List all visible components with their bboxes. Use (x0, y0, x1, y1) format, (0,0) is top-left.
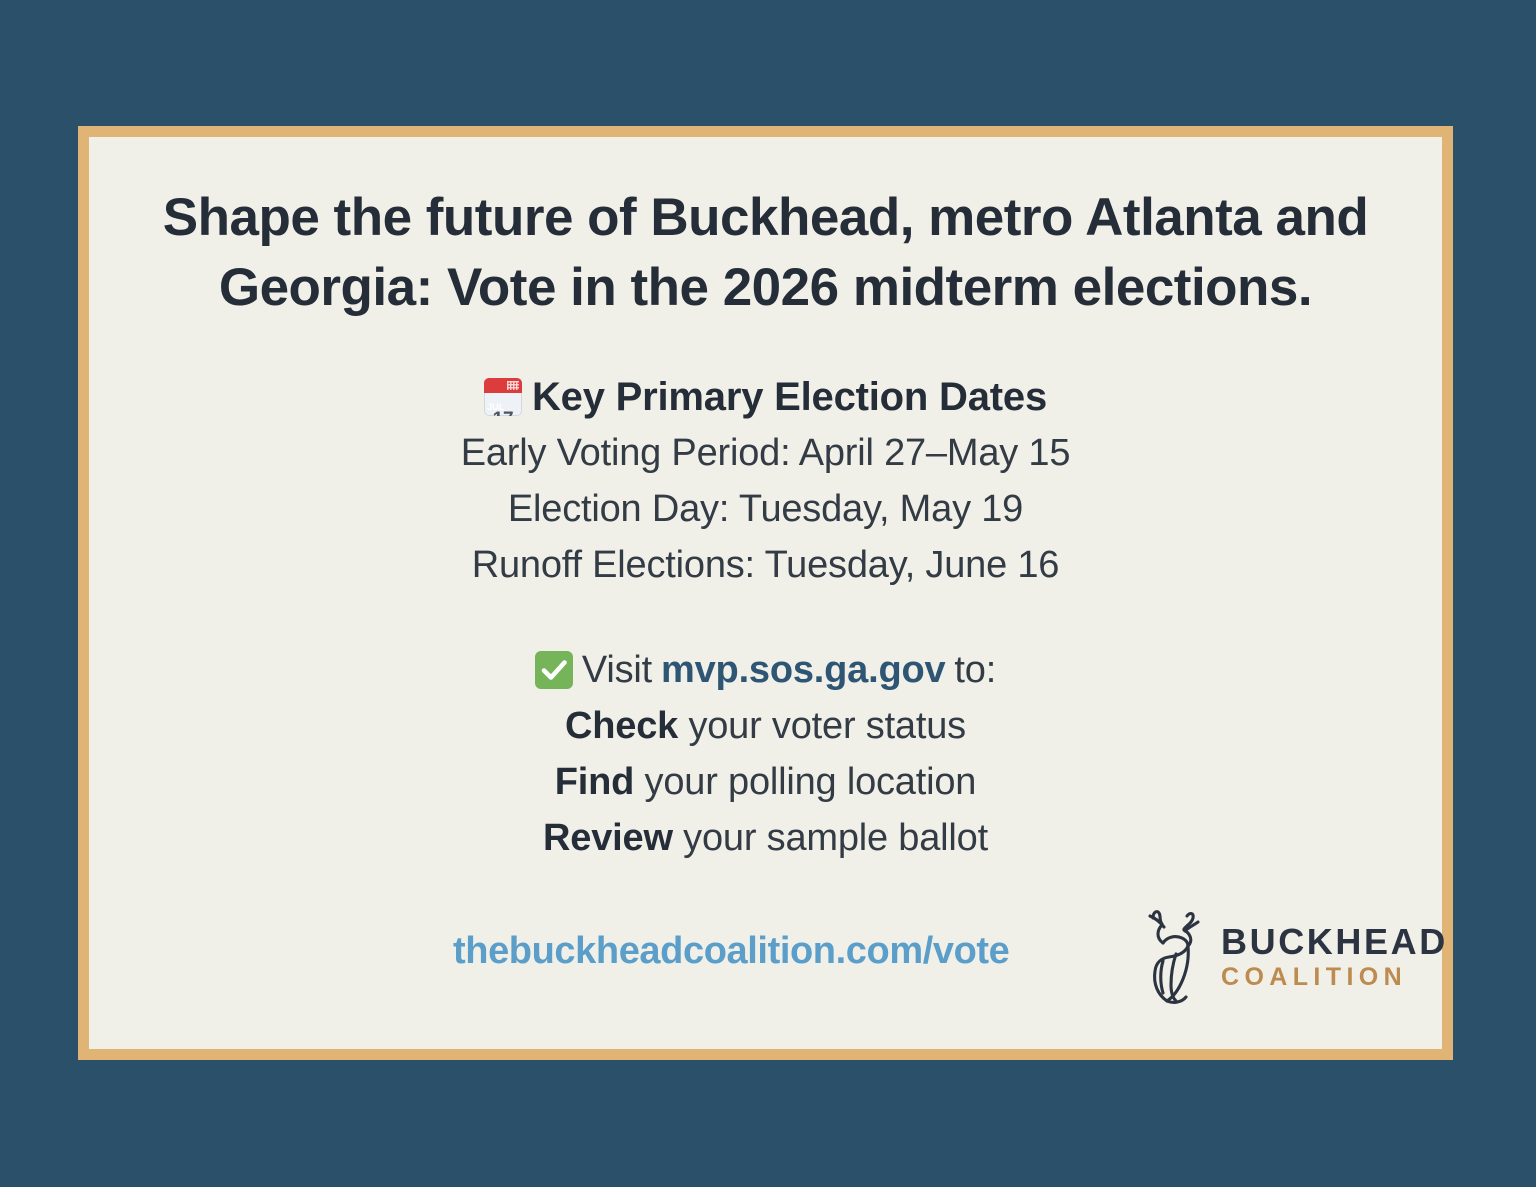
white-check-mark-icon (535, 651, 573, 689)
action-verb-check: Check (565, 705, 678, 747)
footer: thebuckheadcoalition.com/vote (89, 905, 1442, 1025)
buck-deer-head-icon (1141, 905, 1213, 1009)
key-dates-heading-row: JUL 17 Key Primary Election Dates (89, 369, 1442, 425)
date-line-runoff: Runoff Elections: Tuesday, June 16 (89, 537, 1442, 593)
calendar-icon: JUL 17 (484, 378, 522, 416)
action-text-find: your polling location (645, 761, 977, 803)
key-dates-section: JUL 17 Key Primary Election Dates Early … (89, 369, 1442, 593)
logo-primary-text: BUCKHEAD (1221, 924, 1448, 960)
action-text-check: your voter status (688, 705, 966, 747)
date-line-early-voting: Early Voting Period: April 27–May 15 (89, 425, 1442, 481)
poster-inner: Shape the future of Buckhead, metro Atla… (89, 137, 1442, 1049)
action-item-find: Find your polling location (89, 754, 1442, 810)
action-verb-find: Find (555, 761, 634, 803)
visit-section: Visit mvp.sos.ga.gov to: Check your vote… (89, 642, 1442, 866)
poster-card: Shape the future of Buckhead, metro Atla… (78, 126, 1453, 1060)
site-url-link[interactable]: thebuckheadcoalition.com/vote (453, 927, 1009, 975)
page-title: Shape the future of Buckhead, metro Atla… (149, 183, 1382, 323)
date-line-election-day: Election Day: Tuesday, May 19 (89, 481, 1442, 537)
visit-heading-row: Visit mvp.sos.ga.gov to: (89, 642, 1442, 698)
key-dates-heading-text: Key Primary Election Dates (532, 369, 1047, 425)
calendar-grid-dots (507, 381, 519, 390)
action-item-check: Check your voter status (89, 698, 1442, 754)
action-verb-review: Review (543, 817, 673, 859)
logo-secondary-text: COALITION (1221, 965, 1448, 990)
logo-wordmark: BUCKHEAD COALITION (1221, 924, 1448, 990)
buckhead-coalition-logo: BUCKHEAD COALITION (1141, 905, 1448, 1009)
calendar-day-label: 17 (484, 392, 522, 416)
visit-prefix-label: Visit (582, 642, 652, 698)
mvp-sos-ga-gov-link[interactable]: mvp.sos.ga.gov (661, 642, 945, 698)
action-item-review: Review your sample ballot (89, 810, 1442, 866)
visit-suffix-label: to: (954, 642, 996, 698)
action-text-review: your sample ballot (683, 817, 988, 859)
